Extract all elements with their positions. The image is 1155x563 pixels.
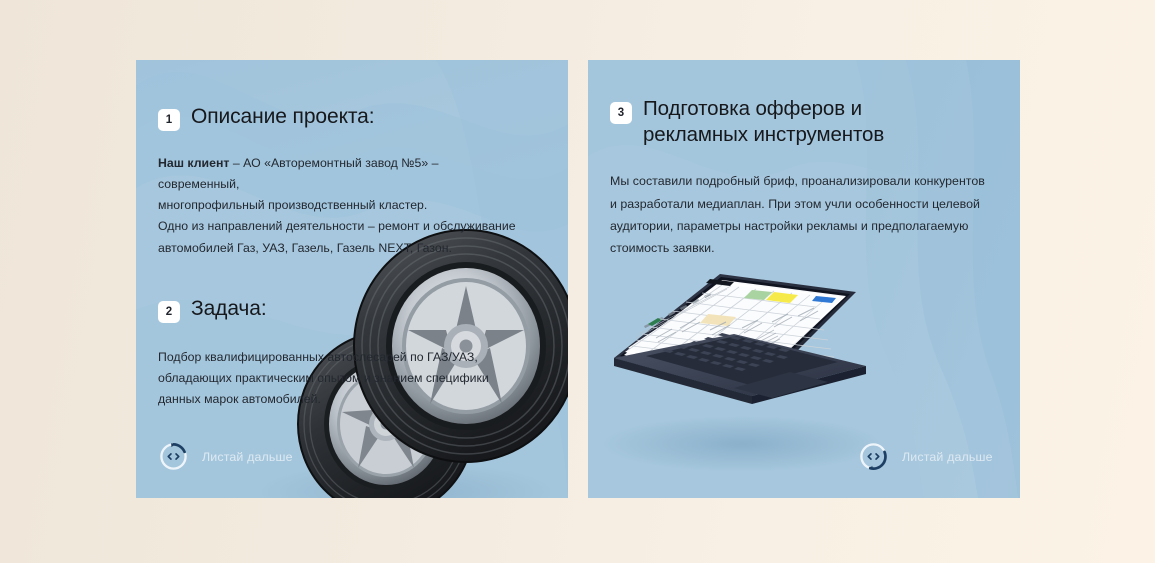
section-title: Задача: xyxy=(191,296,267,321)
swipe-next-circle-icon[interactable] xyxy=(158,441,189,472)
section-heading-3: 3 Подготовка офферов и рекламных инструм… xyxy=(610,96,998,148)
paragraph-bold-lead: Наш клиент xyxy=(158,156,229,170)
swipe-next-right[interactable]: Листай дальше xyxy=(858,441,993,472)
cards-stage: 1 Описание проекта: Наш клиент – АО «Авт… xyxy=(136,60,1020,498)
section-heading-2: 2 Задача: xyxy=(158,296,540,323)
spacer xyxy=(158,323,540,347)
card-left-content: 1 Описание проекта: Наш клиент – АО «Авт… xyxy=(136,60,568,498)
section-paragraph-2: Подбор квалифицированных автослесарей по… xyxy=(158,347,518,410)
card-right-content: 3 Подготовка офферов и рекламных инструм… xyxy=(588,60,1020,498)
section-paragraph-1: Наш клиент – АО «Авторемонтный завод №5»… xyxy=(158,153,518,259)
section-paragraph-3: Мы составили подробный бриф, проанализир… xyxy=(610,170,985,258)
section-heading-1: 1 Описание проекта: xyxy=(158,104,540,131)
section-number-badge: 1 xyxy=(158,109,180,131)
swipe-next-left[interactable]: Листай дальше xyxy=(158,441,293,472)
section-title: Описание проекта: xyxy=(191,104,375,129)
spacer xyxy=(158,131,540,153)
swipe-next-label: Листай дальше xyxy=(902,450,993,464)
card-left: 1 Описание проекта: Наш клиент – АО «Авт… xyxy=(136,60,568,498)
swipe-next-circle-icon[interactable] xyxy=(858,441,889,472)
card-right: 3 Подготовка офферов и рекламных инструм… xyxy=(588,60,1020,498)
paragraph-rest: – АО «Авторемонтный завод №5» – современ… xyxy=(158,156,516,255)
swipe-next-label: Листай дальше xyxy=(202,450,293,464)
spacer xyxy=(610,148,998,170)
section-title: Подготовка офферов и рекламных инструмен… xyxy=(643,96,884,148)
section-number-badge: 2 xyxy=(158,301,180,323)
section-number-badge: 3 xyxy=(610,102,632,124)
spacer xyxy=(158,259,540,296)
